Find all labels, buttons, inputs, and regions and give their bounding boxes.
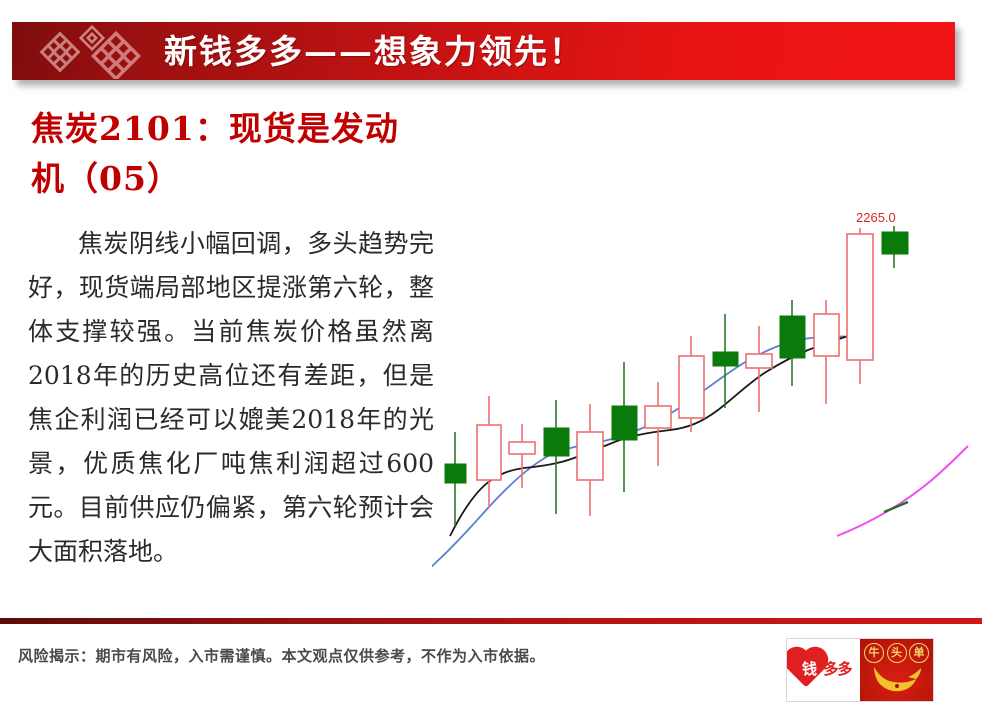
risk-disclaimer: 风险揭示：期市有风险，入市需谨慎。本文观点仅供参考，不作为入市依据。 [18,645,545,666]
candle-8 [713,314,738,408]
candle-5 [612,362,637,492]
article-body: 焦炭阴线小幅回调，多头趋势完好，现货端局部地区提涨第六轮，整体支撑较强。当前焦炭… [28,222,434,574]
ntd-logo-char-2: 头 [887,643,907,663]
page-title: 焦炭2101：现货是发动机（05） [31,104,431,204]
candle-4 [577,404,603,516]
qianduoduo-logo: 钱 多多 [787,639,860,701]
banner-title: 新钱多多——想象力领先！ [164,26,584,80]
last-price-label: 2265.0 [856,210,896,225]
qdd-logo-char-1: 钱 [797,659,823,679]
qdd-logo-char-2: 多多 [824,658,852,680]
candle-2 [509,424,535,488]
ma-short-stub [884,502,908,512]
candle-9 [746,326,772,412]
candlestick-chart: 2265.0 [432,196,972,596]
niutoudan-logo: 牛 头 单 [860,639,933,701]
chart-canvas [432,196,972,596]
diamond-lattice-logo-icon [30,25,152,79]
candle-12 [847,228,873,384]
candle-11 [814,300,839,404]
candle-10 [780,300,805,386]
ntd-logo-char-1: 牛 [864,643,884,663]
candle-13 [882,226,908,268]
bull-head-icon [870,663,922,695]
footer-divider [0,618,982,624]
candle-6 [645,382,671,466]
footer-logos: 钱 多多 牛 头 单 [786,638,934,702]
ma-long-line [837,446,968,536]
ma-short-line [450,336,848,536]
ntd-logo-char-3: 单 [909,643,929,663]
header-banner: 新钱多多——想象力领先！ [12,22,955,80]
candle-1 [477,396,501,508]
candle-7 [679,336,704,432]
